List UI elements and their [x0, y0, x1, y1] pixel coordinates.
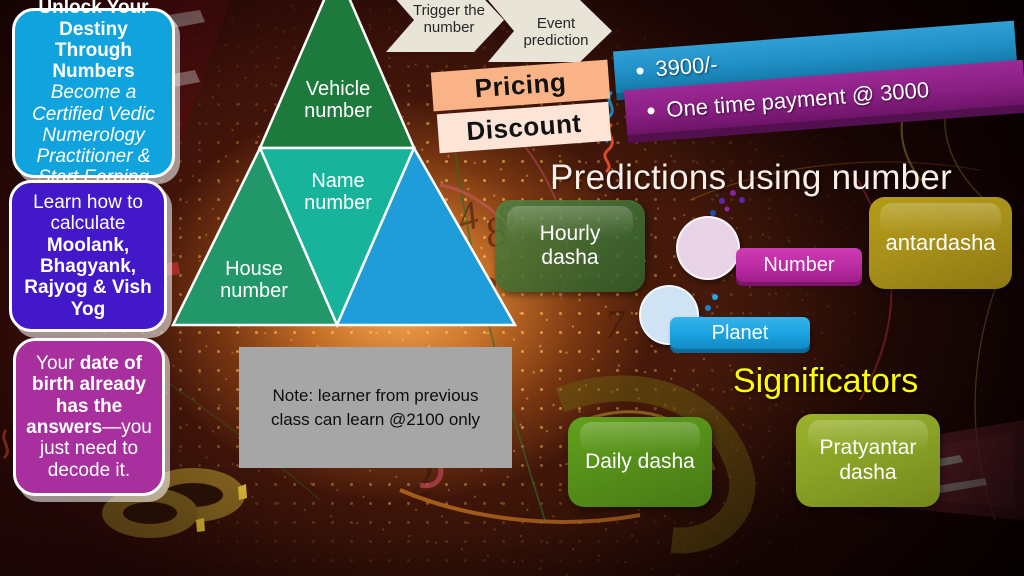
callout-learn-calculate[interactable]: Learn how to calculate Moolank, Bhagyank…: [9, 180, 167, 332]
unlock-heading: Unlock Your Destiny Through Numbers: [38, 0, 148, 82]
box-daily-dasha-label: Daily dasha: [585, 450, 695, 474]
unlock-body: Become a Certified Vedic Numerology Prac…: [32, 82, 155, 188]
heading-significators: Significators: [733, 362, 918, 401]
chevron-label-event: Event prediction: [509, 16, 603, 49]
bullet-icon: [636, 67, 644, 75]
box-antardasha[interactable]: antardasha: [869, 197, 1012, 289]
note-box: Note: learner from previous class can le…: [239, 347, 512, 468]
box-pratyantar-dasha-label: Pratyantar dasha: [820, 436, 917, 484]
price-bar-full-label: 3900/-: [654, 52, 718, 83]
gloss-overlay: [880, 203, 1000, 234]
box-pratyantar-dasha[interactable]: Pratyantar dasha: [796, 414, 940, 507]
callout-date-of-birth[interactable]: Your date of birth already has the answe…: [13, 338, 165, 496]
callout-planet[interactable]: Planet: [670, 317, 810, 349]
box-antardasha-label: antardasha: [885, 230, 995, 255]
gloss-overlay: [580, 422, 701, 453]
slide-canvas: 4 8 9 1 2 7 2 5: [0, 0, 1024, 576]
chevron-label-trigger: Trigger the number: [401, 3, 497, 36]
callout-number[interactable]: Number: [736, 248, 862, 282]
learn-intro: Learn how to calculate: [33, 192, 143, 234]
bullet-icon: [647, 107, 655, 115]
learn-body: Moolank, Bhagyank, Rajyog & Vish Yog: [24, 235, 151, 320]
box-hourly-dasha-label: Hourly dasha: [540, 222, 601, 270]
heading-predictions: Predictions using number: [550, 158, 952, 198]
dob-lead: Your: [36, 353, 80, 374]
box-daily-dasha[interactable]: Daily dasha: [568, 417, 712, 507]
bubble-number-icon: [676, 216, 740, 280]
box-hourly-dasha[interactable]: Hourly dasha: [495, 200, 645, 292]
callout-unlock-destiny[interactable]: Unlock Your Destiny Through Numbers Beco…: [12, 8, 175, 178]
